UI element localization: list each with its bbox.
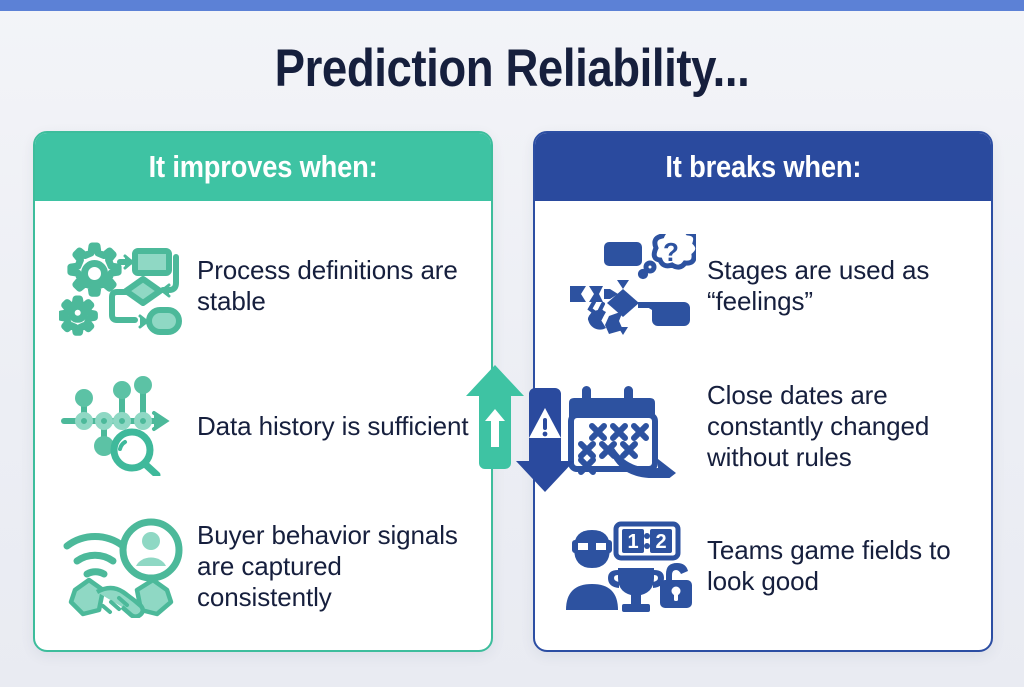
scoreboard-left-digit: 1 [627, 531, 638, 553]
card-breaks-body: ? Stages are used as “feelings” [535, 201, 991, 639]
top-accent-bar [0, 0, 1024, 11]
card-breaks: It breaks when: [533, 131, 993, 652]
infographic-canvas: Prediction Reliability... It improves wh… [0, 0, 1024, 687]
list-item-label: Data history is sufficient [187, 411, 468, 442]
timeline-magnifier-icon [55, 374, 187, 478]
page-title: Prediction Reliability... [72, 38, 953, 100]
wifi-person-handshake-icon [55, 514, 187, 618]
list-item-label: Stages are used as “feelings” [701, 255, 971, 317]
list-item: Buyer behavior signals are captured cons… [55, 503, 471, 629]
list-item: 1 2 [555, 503, 971, 629]
gears-flowchart-icon [55, 234, 187, 338]
down-arrow-break [516, 388, 574, 492]
card-improves-header: It improves when: [35, 133, 491, 201]
card-improves: It improves when: [33, 131, 493, 652]
list-item: Close dates are constantly changed witho… [555, 363, 971, 489]
list-item-label: Process definitions are stable [187, 255, 471, 317]
card-improves-header-label: It improves when: [149, 149, 378, 185]
card-breaks-header: It breaks when: [535, 133, 991, 201]
list-item-label: Teams game fields to look good [701, 535, 971, 597]
list-item: ? Stages are used as “feelings” [555, 223, 971, 349]
broken-flowchart-question-icon: ? [555, 234, 701, 338]
scoreboard-right-digit: 2 [655, 531, 666, 553]
calendar-crosses-arrow-icon [555, 374, 701, 478]
list-item-label: Buyer behavior signals are captured cons… [187, 520, 471, 613]
list-item: Data history is sufficient [55, 363, 471, 489]
list-item: Process definitions are stable [55, 223, 471, 349]
svg-text:?: ? [663, 237, 679, 267]
list-item-label: Close dates are constantly changed witho… [701, 380, 971, 473]
thief-scoreboard-trophy-unlock-icon: 1 2 [555, 514, 701, 618]
card-breaks-header-label: It breaks when: [665, 149, 861, 185]
card-improves-body: Process definitions are stable [35, 201, 491, 639]
